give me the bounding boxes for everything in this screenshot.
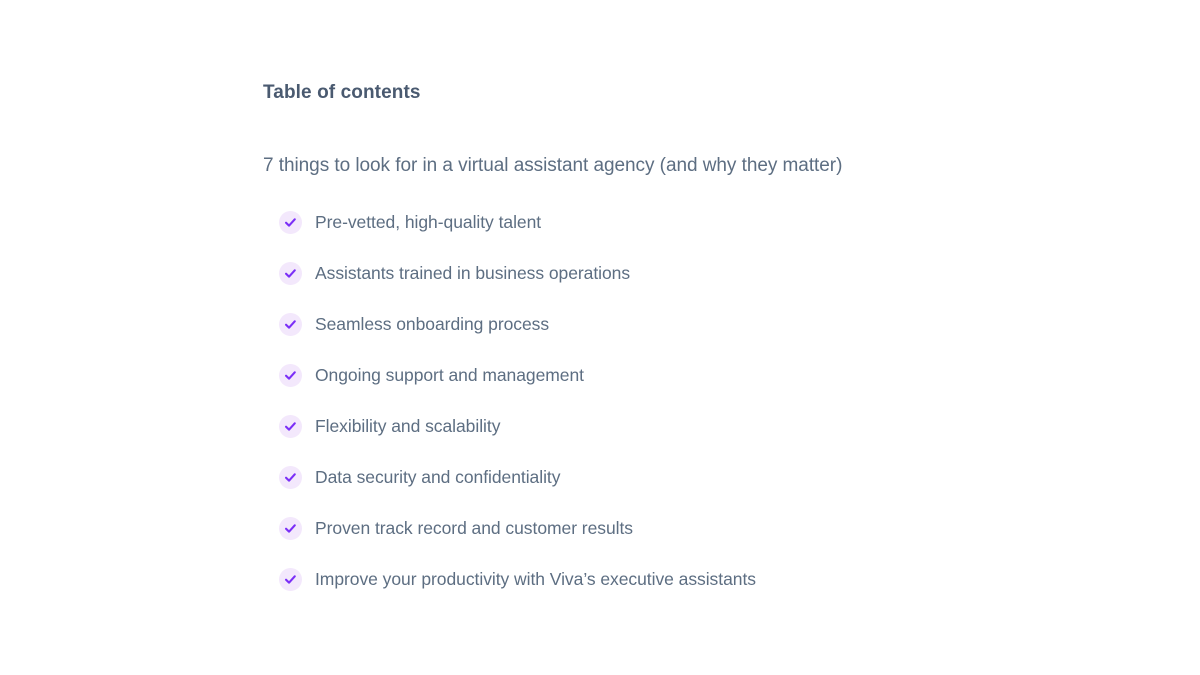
- list-item[interactable]: Assistants trained in business operation…: [279, 262, 756, 285]
- check-icon: [279, 517, 302, 540]
- list-item[interactable]: Proven track record and customer results: [279, 517, 756, 540]
- list-item-label: Assistants trained in business operation…: [315, 262, 630, 285]
- list-item-label: Proven track record and customer results: [315, 517, 633, 540]
- check-icon: [279, 211, 302, 234]
- list-item-label: Flexibility and scalability: [315, 415, 500, 438]
- check-icon: [279, 568, 302, 591]
- list-item[interactable]: Improve your productivity with Viva’s ex…: [279, 568, 756, 591]
- check-icon: [279, 262, 302, 285]
- check-icon: [279, 415, 302, 438]
- toc-subtitle: 7 things to look for in a virtual assist…: [263, 153, 842, 179]
- list-item-label: Improve your productivity with Viva’s ex…: [315, 568, 756, 591]
- list-item-label: Pre-vetted, high-quality talent: [315, 211, 541, 234]
- list-item-label: Data security and confidentiality: [315, 466, 560, 489]
- list-item[interactable]: Ongoing support and management: [279, 364, 756, 387]
- list-item[interactable]: Flexibility and scalability: [279, 415, 756, 438]
- list-item-label: Seamless onboarding process: [315, 313, 549, 336]
- page-title: Table of contents: [263, 80, 421, 106]
- check-icon: [279, 364, 302, 387]
- check-icon: [279, 466, 302, 489]
- list-item[interactable]: Seamless onboarding process: [279, 313, 756, 336]
- list-item[interactable]: Data security and confidentiality: [279, 466, 756, 489]
- toc-list: Pre-vetted, high-quality talent Assistan…: [279, 211, 756, 591]
- list-item[interactable]: Pre-vetted, high-quality talent: [279, 211, 756, 234]
- list-item-label: Ongoing support and management: [315, 364, 584, 387]
- check-icon: [279, 313, 302, 336]
